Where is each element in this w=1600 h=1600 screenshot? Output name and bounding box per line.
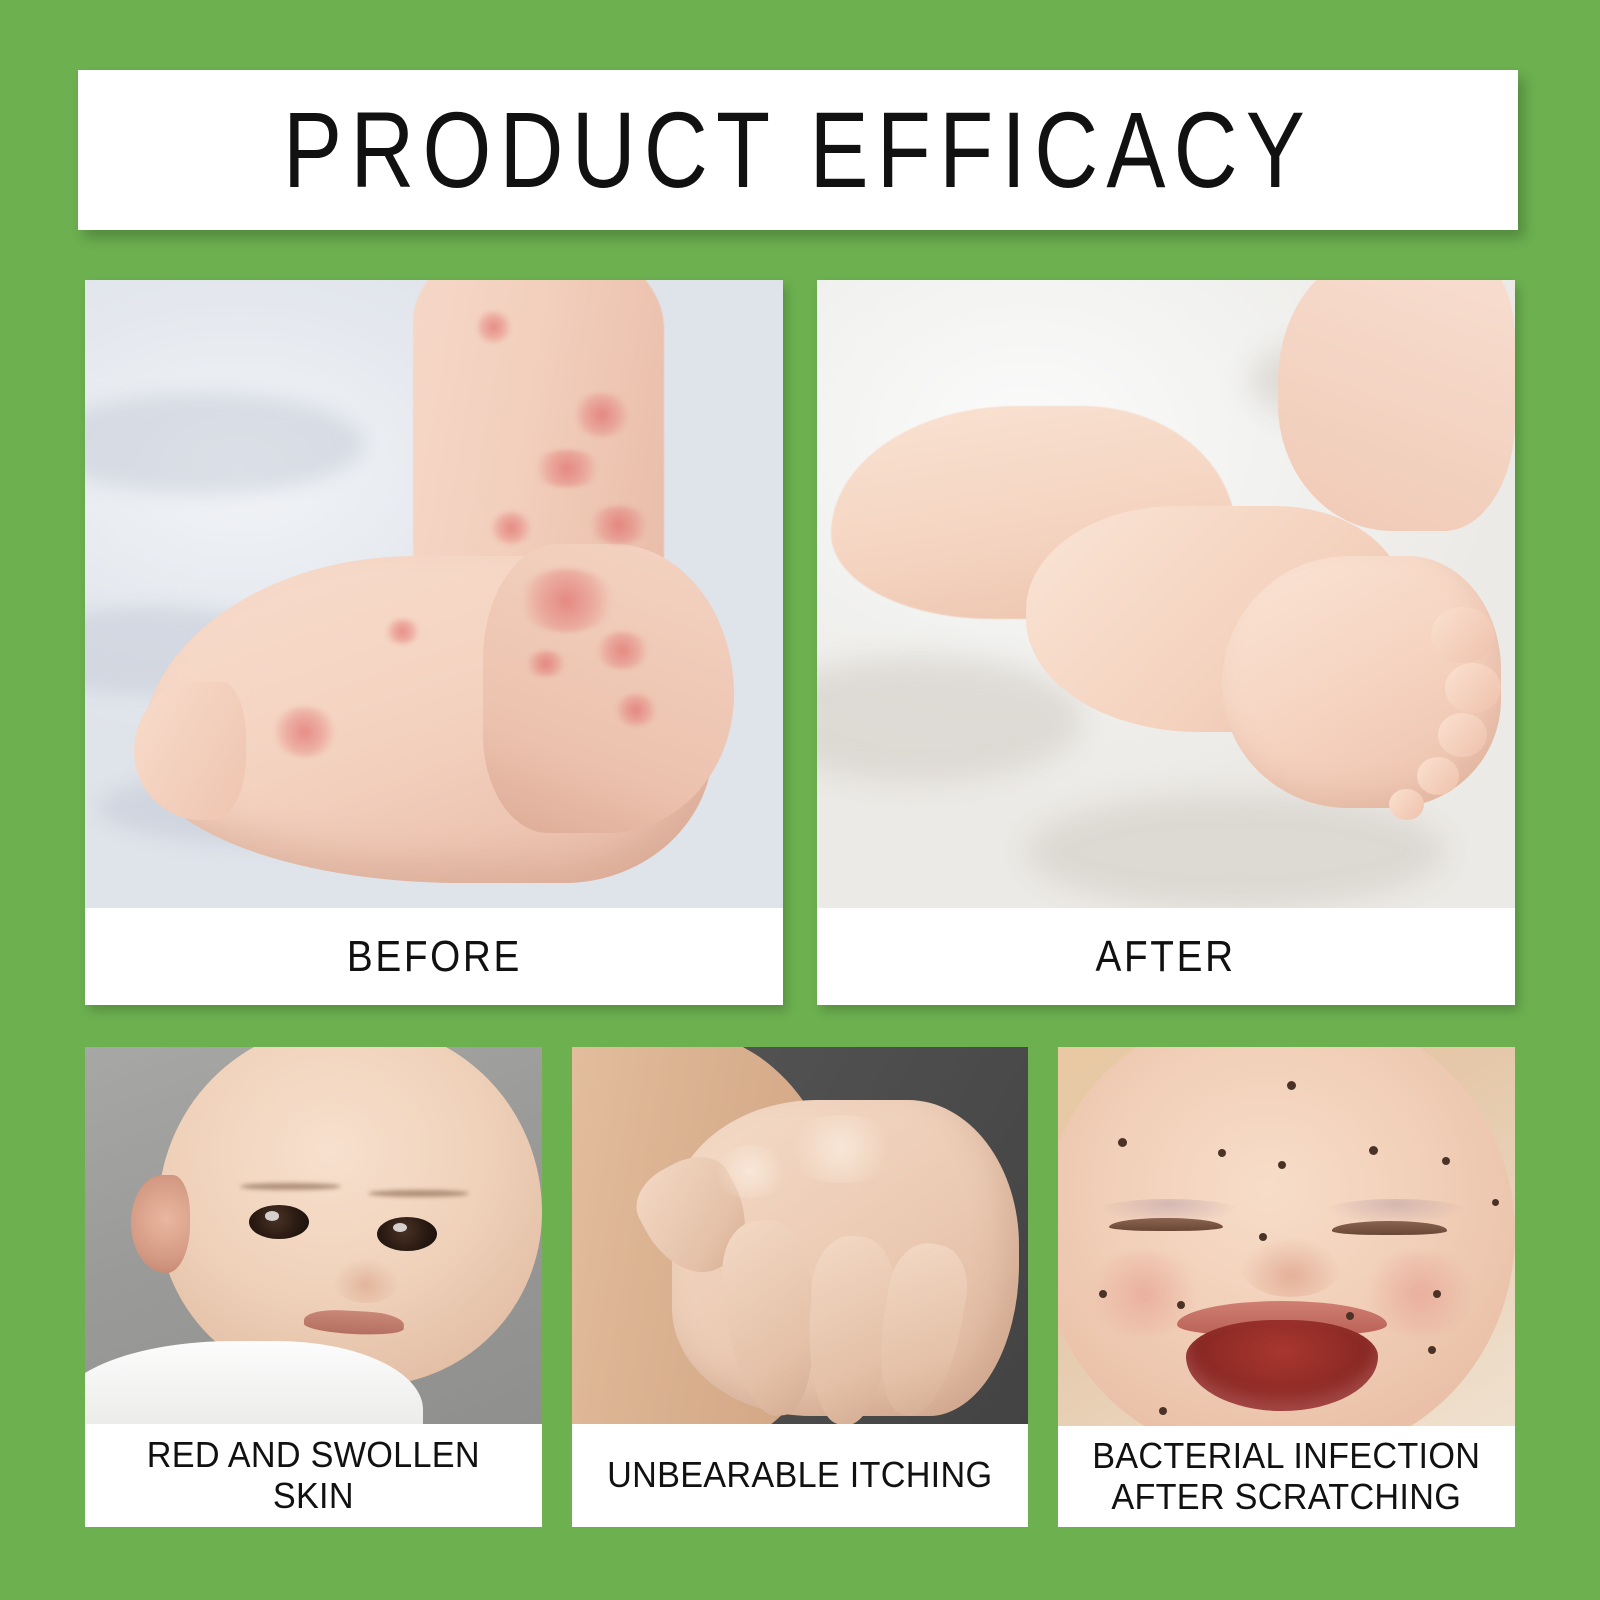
crying-baby-photo [1058, 1047, 1515, 1426]
page-title: PRODUCT EFFICACY [283, 96, 1313, 204]
symptom-panel-red-swollen-skin: RED AND SWOLLEN SKIN [85, 1047, 542, 1527]
symptom-caption-2-text: UNBEARABLE ITCHING [607, 1455, 992, 1495]
symptoms-row: RED AND SWOLLEN SKIN UNBEARABLE ITCHING [85, 1047, 1515, 1527]
symptom-caption-3: BACTERIAL INFECTION AFTER SCRATCHING [1058, 1426, 1515, 1527]
title-card: PRODUCT EFFICACY [78, 70, 1518, 230]
before-caption-text: BEFORE [346, 932, 521, 982]
after-panel: AFTER [817, 280, 1515, 1005]
baby-head-shape [158, 1047, 542, 1386]
symptom-caption-3-line1: BACTERIAL INFECTION [1093, 1435, 1481, 1476]
sad-baby-photo [85, 1047, 542, 1424]
before-after-row: BEFORE [85, 280, 1515, 1005]
upper-leg-shape [1278, 280, 1515, 531]
scratching-photo [572, 1047, 1029, 1424]
symptom-caption-3-line2: AFTER SCRATCHING [1112, 1476, 1462, 1517]
hand-scratching-image [572, 1047, 1029, 1424]
symptom-caption-2: UNBEARABLE ITCHING [572, 1424, 1029, 1527]
symptom-caption-1: RED AND SWOLLEN SKIN [85, 1424, 542, 1527]
before-panel: BEFORE [85, 280, 783, 1005]
symptom-panel-bacterial-infection: BACTERIAL INFECTION AFTER SCRATCHING [1058, 1047, 1515, 1527]
crying-nose-shape [1241, 1237, 1341, 1298]
before-caption: BEFORE [85, 908, 783, 1005]
crying-baby-image [1058, 1047, 1515, 1426]
after-photo [817, 280, 1515, 908]
baby-ear-shape [131, 1175, 190, 1273]
sad-baby-image [85, 1047, 542, 1424]
symptom-caption-1-text: RED AND SWOLLEN SKIN [102, 1435, 524, 1516]
symptom-panel-itching: UNBEARABLE ITCHING [572, 1047, 1029, 1527]
symptom-caption-3-text: BACTERIAL INFECTION AFTER SCRATCHING [1093, 1436, 1481, 1517]
after-caption-text: AFTER [1096, 932, 1236, 982]
product-efficacy-poster: PRODUCT EFFICACY [0, 0, 1600, 1600]
baby-nose-shape [332, 1258, 401, 1303]
baby-foot-rash-image [85, 280, 783, 908]
before-photo [85, 280, 783, 908]
after-caption: AFTER [817, 908, 1515, 1005]
healthy-baby-legs-image [817, 280, 1515, 908]
